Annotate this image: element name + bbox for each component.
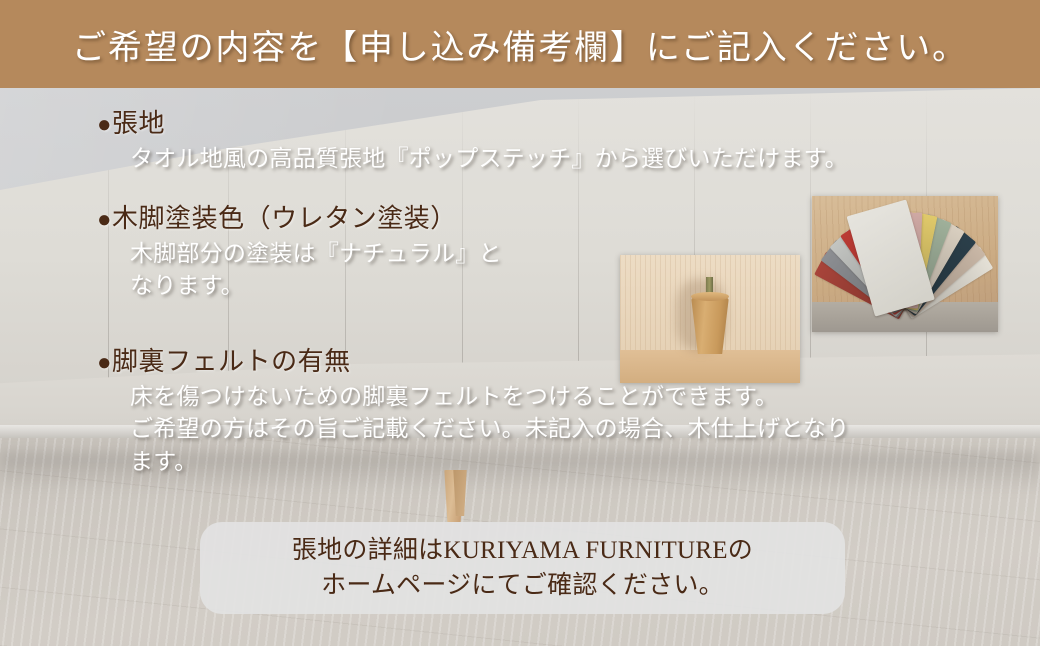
wooden-leg-photo bbox=[620, 255, 800, 383]
section-heading-label: 張地 bbox=[112, 109, 165, 138]
body-line: なります。 bbox=[130, 270, 502, 303]
section-heading-label: 脚裏フェルトの有無 bbox=[112, 347, 351, 376]
callout-line: 張地の詳細はKURIYAMA FURNITUREの bbox=[292, 534, 753, 568]
body-line: 木脚部分の塗装は『ナチュラル』と bbox=[130, 238, 502, 271]
fabric-swatch-photo bbox=[812, 196, 998, 332]
section-body: タオル地風の高品質張地『ポップステッチ』から選びいただけます。 bbox=[130, 143, 848, 176]
body-line: 床を傷つけないための脚裏フェルトをつけることができます。 bbox=[130, 381, 849, 414]
promo-panel: ご希望の内容を【申し込み備考欄】にご記入ください。 ●張地 タオル地風の高品質張… bbox=[0, 0, 1040, 646]
bullet-icon: ● bbox=[97, 207, 112, 233]
section-heading-label: 木脚塗装色（ウレタン塗装） bbox=[112, 204, 457, 233]
section-body: 木脚部分の塗装は『ナチュラル』と なります。 bbox=[130, 238, 502, 303]
section-heading: ●木脚塗装色（ウレタン塗装） bbox=[97, 203, 502, 236]
bullet-icon: ● bbox=[97, 350, 112, 376]
header-banner-text: ご希望の内容を【申し込み備考欄】にご記入ください。 bbox=[72, 20, 968, 69]
header-banner: ご希望の内容を【申し込み備考欄】にご記入ください。 bbox=[0, 0, 1040, 88]
body-line: ます。 bbox=[130, 446, 849, 479]
section-body: 床を傷つけないための脚裏フェルトをつけることができます。 ご希望の方はその旨ご記… bbox=[130, 381, 849, 479]
leg-photo-floor bbox=[620, 350, 800, 383]
section-leg-finish: ●木脚塗装色（ウレタン塗装） 木脚部分の塗装は『ナチュラル』と なります。 bbox=[97, 203, 502, 303]
body-line: ご希望の方はその旨ご記載ください。未記入の場合、木仕上げとなり bbox=[130, 413, 849, 446]
leg-photo-top bbox=[691, 292, 729, 301]
section-heading: ●張地 bbox=[97, 108, 848, 141]
body-line: タオル地風の高品質張地『ポップステッチ』から選びいただけます。 bbox=[130, 143, 848, 176]
section-upholstery: ●張地 タオル地風の高品質張地『ポップステッチ』から選びいただけます。 bbox=[97, 108, 848, 175]
callout-line: ホームページにてご確認ください。 bbox=[321, 569, 724, 603]
homepage-callout-box: 張地の詳細はKURIYAMA FURNITUREの ホームページにてご確認くださ… bbox=[200, 522, 845, 614]
bullet-icon: ● bbox=[97, 112, 112, 138]
